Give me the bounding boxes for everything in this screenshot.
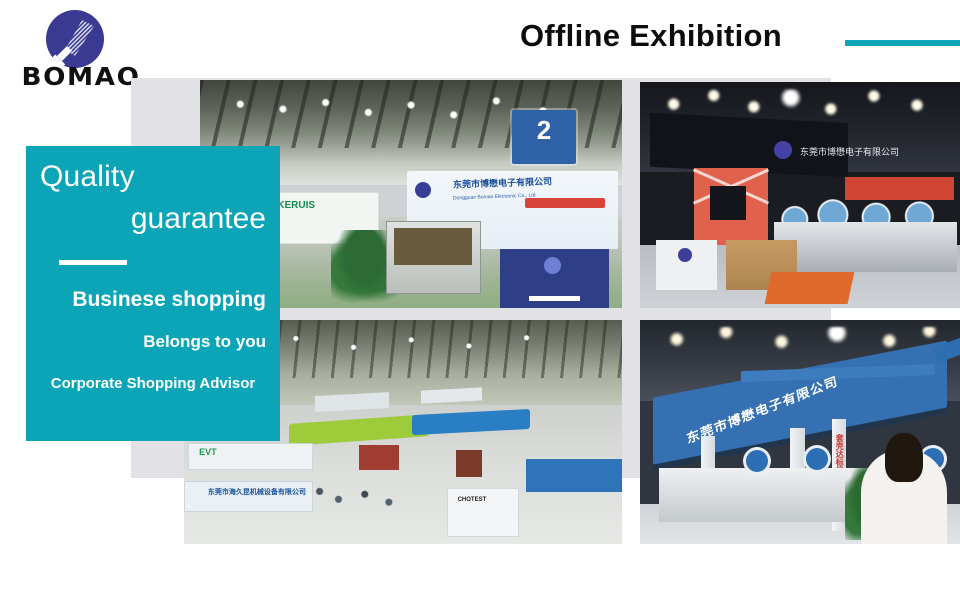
bomao-floor-panel xyxy=(500,249,610,308)
quality-guarantee-card: Quality guarantee Businese shopping Belo… xyxy=(26,146,280,441)
callout-line-5: Corporate Shopping Advisor xyxy=(26,376,280,391)
evt-booth-label: EVT xyxy=(199,447,217,457)
booth-tag-banner xyxy=(525,198,605,208)
visitors-icon xyxy=(307,477,412,513)
haojiu-booth: 东莞市海久昆机械设备有限公司 xyxy=(184,481,313,512)
chotest-booth-label: CHOTEST xyxy=(458,497,487,503)
divider-line-icon xyxy=(59,260,127,265)
machine-row xyxy=(774,222,956,272)
brand-wordmark: BOMAO xyxy=(18,64,144,89)
red-exhibit-b xyxy=(456,450,482,477)
visitor-foreground xyxy=(861,450,947,544)
horizontal-rule-icon xyxy=(845,40,960,46)
booth-sign-en: Dongguan Bomao Electronic Co., Ltd xyxy=(453,193,536,202)
hall-number-sign: 2 xyxy=(512,110,575,165)
bomao-circle-icon xyxy=(544,257,561,274)
haojiu-booth-label: 东莞市海久昆机械设备有限公司 xyxy=(208,487,306,497)
gallery-photo-top-right[interactable]: 东莞市博懋电子有限公司 xyxy=(640,82,960,308)
cable-reel-icon xyxy=(806,448,828,470)
cable-reel-icon xyxy=(746,450,768,472)
bomao-circle-icon xyxy=(678,248,692,262)
bomao-panel-wordmark xyxy=(529,296,579,301)
reception-counter xyxy=(656,240,717,290)
callout-line-3: Businese shopping xyxy=(40,289,266,310)
bomao-mark-icon xyxy=(415,182,431,198)
bomao-cable-circle-logo-icon xyxy=(44,8,106,70)
fy-booth xyxy=(526,459,622,493)
gallery-photo-bottom-right[interactable]: 东莞市博懋电子有限公司 套壳达标机 xyxy=(640,320,960,544)
evt-booth: EVT xyxy=(188,443,313,470)
booth-sign-cn: 东莞市博懋电子有限公司 xyxy=(453,174,552,190)
callout-line-4: Belongs to you xyxy=(40,333,266,350)
slide-canvas: BOMAO Offline Exhibition 2 KERUIS 东莞市博懋电… xyxy=(0,0,960,596)
exhibit-machine xyxy=(386,221,481,294)
neighbour-booth-label: KERUIS xyxy=(277,200,315,211)
pallet-jack-icon xyxy=(765,272,855,304)
wall-monitor-icon xyxy=(710,186,745,220)
callout-line-2: guarantee xyxy=(40,204,266,234)
callout-line-1: Quality xyxy=(40,162,135,192)
booth-sign-cn: 东莞市博懋电子有限公司 xyxy=(800,145,899,158)
brand-logo: BOMAO xyxy=(18,6,138,84)
hall-number-label: 2 xyxy=(512,110,575,150)
red-exhibit-a xyxy=(359,445,398,470)
chotest-booth: CHOTEST xyxy=(447,488,519,537)
page-title: Offline Exhibition xyxy=(520,18,782,54)
